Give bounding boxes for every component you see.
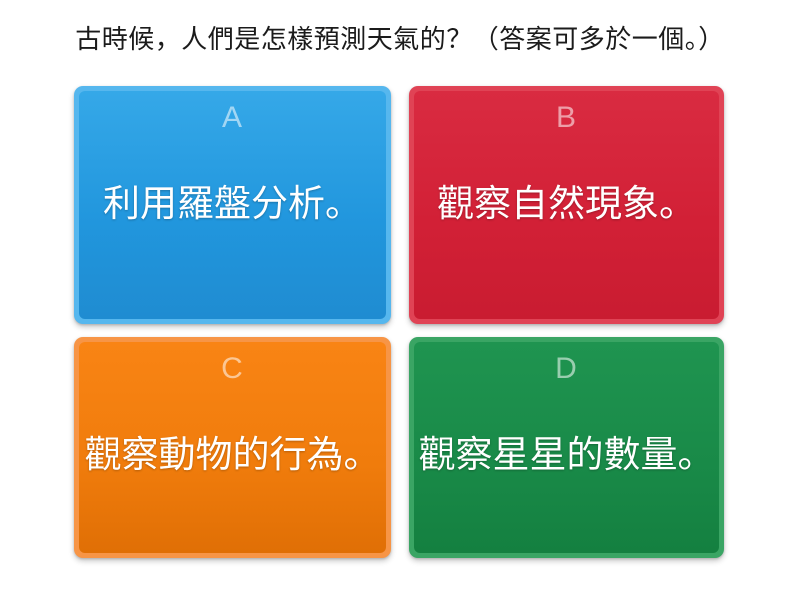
answer-option-c-text: 觀察動物的行為。 [79,434,386,477]
answer-option-a-text: 利用羅盤分析。 [79,183,386,226]
answer-option-c[interactable]: C 觀察動物的行為。 [74,337,391,558]
answer-option-c-letter: C [79,352,386,386]
answer-option-b-letter: B [414,101,719,135]
answer-option-b-text: 觀察自然現象。 [414,183,719,226]
answer-options-grid: A 利用羅盤分析。 B 觀察自然現象。 C 觀察動物的行為。 D 觀察星星的數量… [0,84,800,562]
question-bar: 古時候，人們是怎樣預測天氣的？（答案可多於一個。） [0,0,800,80]
answer-option-a-inner: A 利用羅盤分析。 [79,91,386,319]
question-text: 古時候，人們是怎樣預測天氣的？（答案可多於一個。） [75,24,725,55]
answer-option-a[interactable]: A 利用羅盤分析。 [74,86,391,324]
answer-option-b-inner: B 觀察自然現象。 [414,91,719,319]
answer-option-b[interactable]: B 觀察自然現象。 [409,86,724,324]
answer-option-d-letter: D [414,352,719,386]
answer-option-a-letter: A [79,101,386,135]
answer-option-d[interactable]: D 觀察星星的數量。 [409,337,724,558]
answer-option-d-text: 觀察星星的數量。 [414,434,719,477]
answer-option-d-inner: D 觀察星星的數量。 [414,342,719,553]
answer-option-c-inner: C 觀察動物的行為。 [79,342,386,553]
